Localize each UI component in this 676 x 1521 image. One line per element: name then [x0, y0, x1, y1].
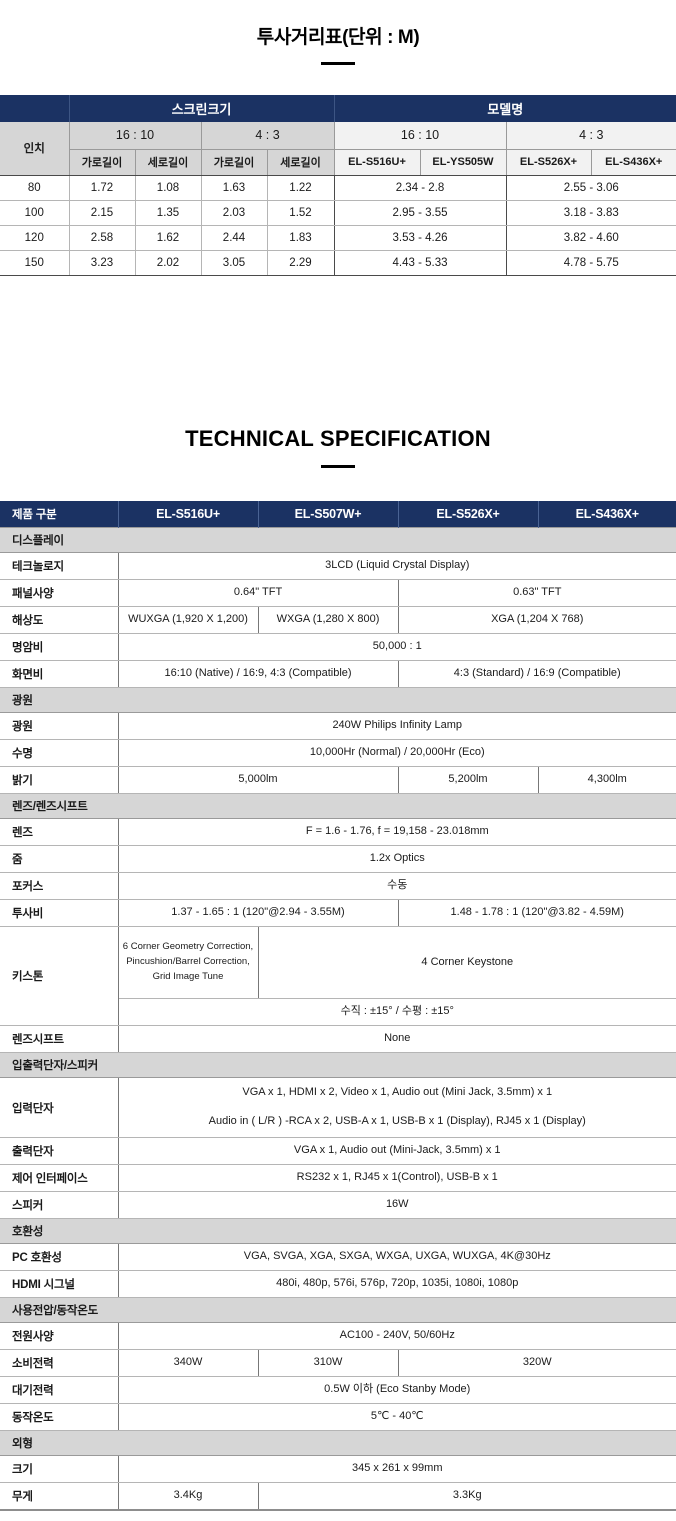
- value-brightness-c: 4,300lm: [538, 767, 676, 794]
- section-row: 광원: [0, 688, 676, 713]
- label-lens: 렌즈: [0, 819, 118, 846]
- cell-model-43: 4.78 - 5.75: [506, 250, 676, 275]
- value-contrast: 50,000 : 1: [118, 634, 676, 661]
- header-ratio-model-1610: 16 : 10: [334, 122, 506, 149]
- cell-model-1610: 2.95 - 3.55: [334, 200, 506, 225]
- value-technology: 3LCD (Liquid Crystal Display): [118, 553, 676, 580]
- spec-header-label: 제품 구분: [0, 501, 118, 528]
- label-throw: 투사비: [0, 900, 118, 927]
- section-row: 디스플레이: [0, 528, 676, 553]
- table-row: HDMI 시그널 480i, 480p, 576i, 576p, 720p, 1…: [0, 1271, 676, 1298]
- cell-width-43: 2.03: [201, 200, 267, 225]
- label-resolution: 해상도: [0, 607, 118, 634]
- value-standby: 0.5W 이하 (Eco Stanby Mode): [118, 1377, 676, 1404]
- spacer: [0, 65, 676, 95]
- table-row: 100 2.15 1.35 2.03 1.52 2.95 - 3.55 3.18…: [0, 200, 676, 225]
- table-row: 입력단자 VGA x 1, HDMI x 2, Video x 1, Audio…: [0, 1078, 676, 1108]
- table-row: 크기 345 x 261 x 99mm: [0, 1456, 676, 1483]
- value-input-1: VGA x 1, HDMI x 2, Video x 1, Audio out …: [118, 1078, 676, 1108]
- cell-height-1610: 2.02: [135, 250, 201, 275]
- value-resolution-3: XGA (1,204 X 768): [398, 607, 676, 634]
- value-weight-a: 3.4Kg: [118, 1483, 258, 1510]
- label-consumption: 소비전력: [0, 1350, 118, 1377]
- table-row: 줌 1.2x Optics: [0, 846, 676, 873]
- table-row: 밝기 5,000lm 5,200lm 4,300lm: [0, 767, 676, 794]
- header-model-el-s436x: EL-S436X+: [591, 149, 676, 175]
- table-row: 150 3.23 2.02 3.05 2.29 4.43 - 5.33 4.78…: [0, 250, 676, 275]
- group-header-model-name: 모델명: [334, 95, 676, 122]
- value-control: RS232 x 1, RJ45 x 1(Control), USB-B x 1: [118, 1165, 676, 1192]
- section-lightsource: 광원: [0, 688, 676, 713]
- value-lens: F = 1.6 - 1.76, f = 19,158 - 23.018mm: [118, 819, 676, 846]
- value-aspect-a: 16:10 (Native) / 16:9, 4:3 (Compatible): [118, 661, 398, 688]
- value-throw-b: 1.48 - 1.78 : 1 (120"@3.82 - 4.59M): [398, 900, 676, 927]
- value-resolution-2: WXGA (1,280 X 800): [258, 607, 398, 634]
- value-brightness-a: 5,000lm: [118, 767, 398, 794]
- cell-model-1610: 4.43 - 5.33: [334, 250, 506, 275]
- cell-width-43: 3.05: [201, 250, 267, 275]
- table-row: 전원사양 AC100 - 240V, 50/60Hz: [0, 1323, 676, 1350]
- label-zoom: 줌: [0, 846, 118, 873]
- section-display: 디스플레이: [0, 528, 676, 553]
- cell-height-43: 1.22: [267, 175, 334, 200]
- cell-width-1610: 1.72: [69, 175, 135, 200]
- cell-inch: 120: [0, 225, 69, 250]
- value-input-2: Audio in ( L/R ) -RCA x 2, USB-A x 1, US…: [118, 1108, 676, 1138]
- header-width-1610: 가로길이: [69, 149, 135, 175]
- header-ratio-screen-1610: 16 : 10: [69, 122, 201, 149]
- value-consumption-c: 320W: [398, 1350, 676, 1377]
- cell-inch: 100: [0, 200, 69, 225]
- table-row: 무게 3.4Kg 3.3Kg: [0, 1483, 676, 1510]
- page-title: 투사거리표(단위 : M): [0, 0, 676, 49]
- table-row: 패널사양 0.64" TFT 0.63" TFT: [0, 580, 676, 607]
- label-optemp: 동작온도: [0, 1404, 118, 1431]
- value-lightsource: 240W Philips Infinity Lamp: [118, 713, 676, 740]
- header-ratio-model-43: 4 : 3: [506, 122, 676, 149]
- value-keystone-c: 수직 : ±15° / 수평 : ±15°: [118, 999, 676, 1026]
- label-hdmi-signal: HDMI 시그널: [0, 1271, 118, 1298]
- table-row: 동작온도 5℃ - 40℃: [0, 1404, 676, 1431]
- spec-header-model-1: EL-S516U+: [118, 501, 258, 528]
- value-resolution-1: WUXGA (1,920 X 1,200): [118, 607, 258, 634]
- cell-width-1610: 3.23: [69, 250, 135, 275]
- value-panel-b: 0.63" TFT: [398, 580, 676, 607]
- value-output: VGA x 1, Audio out (Mini-Jack, 3.5mm) x …: [118, 1138, 676, 1165]
- section-row: 렌즈/렌즈시프트: [0, 794, 676, 819]
- header-ratio-screen-43: 4 : 3: [201, 122, 334, 149]
- section-power: 사용전압/동작온도: [0, 1298, 676, 1323]
- spec-header-model-3: EL-S526X+: [398, 501, 538, 528]
- value-focus: 수동: [118, 873, 676, 900]
- value-panel-a: 0.64" TFT: [118, 580, 398, 607]
- section-row: 입출력단자/스피커: [0, 1053, 676, 1078]
- label-contrast: 명암비: [0, 634, 118, 661]
- spec-header-model-2: EL-S507W+: [258, 501, 398, 528]
- table-row: 수명 10,000Hr (Normal) / 20,000Hr (Eco): [0, 740, 676, 767]
- label-aspect: 화면비: [0, 661, 118, 688]
- table-row: 광원 240W Philips Infinity Lamp: [0, 713, 676, 740]
- spec-header-row: 제품 구분 EL-S516U+ EL-S507W+ EL-S526X+ EL-S…: [0, 501, 676, 528]
- header-height-1610: 세로길이: [135, 149, 201, 175]
- label-panel: 패널사양: [0, 580, 118, 607]
- value-supply: AC100 - 240V, 50/60Hz: [118, 1323, 676, 1350]
- projection-sub-header-row: 가로길이 세로길이 가로길이 세로길이 EL-S516U+ EL-YS505W …: [0, 149, 676, 175]
- table-row: 120 2.58 1.62 2.44 1.83 3.53 - 4.26 3.82…: [0, 225, 676, 250]
- table-row: 포커스 수동: [0, 873, 676, 900]
- label-focus: 포커스: [0, 873, 118, 900]
- cell-model-1610: 3.53 - 4.26: [334, 225, 506, 250]
- projection-distance-table: 스크린크기 모델명 인치 16 : 10 4 : 3 16 : 10 4 : 3…: [0, 95, 676, 276]
- cell-height-43: 1.52: [267, 200, 334, 225]
- table-row: 출력단자 VGA x 1, Audio out (Mini-Jack, 3.5m…: [0, 1138, 676, 1165]
- section-dimensions: 외형: [0, 1431, 676, 1456]
- value-keystone-b: 4 Corner Keystone: [258, 927, 676, 999]
- cell-height-43: 1.83: [267, 225, 334, 250]
- cell-width-43: 1.63: [201, 175, 267, 200]
- label-life: 수명: [0, 740, 118, 767]
- table-row: 소비전력 340W 310W 320W: [0, 1350, 676, 1377]
- value-hdmi-signal: 480i, 480p, 576i, 576p, 720p, 1035i, 108…: [118, 1271, 676, 1298]
- label-supply: 전원사양: [0, 1323, 118, 1350]
- spacer: [0, 468, 676, 501]
- value-weight-b: 3.3Kg: [258, 1483, 676, 1510]
- table-row: 대기전력 0.5W 이하 (Eco Stanby Mode): [0, 1377, 676, 1404]
- cell-model-1610: 2.34 - 2.8: [334, 175, 506, 200]
- value-consumption-b: 310W: [258, 1350, 398, 1377]
- value-consumption-a: 340W: [118, 1350, 258, 1377]
- spec-page-title: TECHNICAL SPECIFICATION: [0, 426, 676, 452]
- label-standby: 대기전력: [0, 1377, 118, 1404]
- value-optemp: 5℃ - 40℃: [118, 1404, 676, 1431]
- label-pc-compat: PC 호환성: [0, 1244, 118, 1271]
- header-height-43: 세로길이: [267, 149, 334, 175]
- table-row: 렌즈 F = 1.6 - 1.76, f = 19,158 - 23.018mm: [0, 819, 676, 846]
- label-keystone: 키스톤: [0, 927, 118, 1026]
- spec-title-block: TECHNICAL SPECIFICATION: [0, 426, 676, 468]
- technical-specification-table: 제품 구분 EL-S516U+ EL-S507W+ EL-S526X+ EL-S…: [0, 501, 676, 1511]
- value-speaker: 16W: [118, 1192, 676, 1219]
- table-row: 명암비 50,000 : 1: [0, 634, 676, 661]
- value-zoom: 1.2x Optics: [118, 846, 676, 873]
- cell-model-43: 2.55 - 3.06: [506, 175, 676, 200]
- label-brightness: 밝기: [0, 767, 118, 794]
- label-speaker: 스피커: [0, 1192, 118, 1219]
- label-size: 크기: [0, 1456, 118, 1483]
- section-row: 호환성: [0, 1219, 676, 1244]
- cell-width-1610: 2.58: [69, 225, 135, 250]
- label-technology: 테크놀로지: [0, 553, 118, 580]
- spec-header-model-4: EL-S436X+: [538, 501, 676, 528]
- label-weight: 무게: [0, 1483, 118, 1510]
- header-inch: 인치: [0, 122, 69, 175]
- label-input: 입력단자: [0, 1078, 118, 1138]
- projection-title-block: 투사거리표(단위 : M): [0, 0, 676, 65]
- cell-height-1610: 1.35: [135, 200, 201, 225]
- label-lightsource: 광원: [0, 713, 118, 740]
- cell-height-43: 2.29: [267, 250, 334, 275]
- projection-ratio-header-row: 인치 16 : 10 4 : 3 16 : 10 4 : 3: [0, 122, 676, 149]
- section-row: 외형: [0, 1431, 676, 1456]
- header-model-el-s516u: EL-S516U+: [334, 149, 420, 175]
- table-row: 화면비 16:10 (Native) / 16:9, 4:3 (Compatib…: [0, 661, 676, 688]
- section-row: 사용전압/동작온도: [0, 1298, 676, 1323]
- header-model-el-ys505w: EL-YS505W: [420, 149, 506, 175]
- section-terminals: 입출력단자/스피커: [0, 1053, 676, 1078]
- label-control: 제어 인터페이스: [0, 1165, 118, 1192]
- section-compat: 호환성: [0, 1219, 676, 1244]
- projection-group-header-row: 스크린크기 모델명: [0, 95, 676, 122]
- value-pc-compat: VGA, SVGA, XGA, SXGA, WXGA, UXGA, WUXGA,…: [118, 1244, 676, 1271]
- table-row: 해상도 WUXGA (1,920 X 1,200) WXGA (1,280 X …: [0, 607, 676, 634]
- table-row: 제어 인터페이스 RS232 x 1, RJ45 x 1(Control), U…: [0, 1165, 676, 1192]
- header-model-el-s526x: EL-S526X+: [506, 149, 591, 175]
- cell-height-1610: 1.62: [135, 225, 201, 250]
- cell-inch: 150: [0, 250, 69, 275]
- value-keystone-a: 6 Corner Geometry Correction, Pincushion…: [118, 927, 258, 999]
- group-header-screen-size: 스크린크기: [69, 95, 334, 122]
- table-row: 스피커 16W: [0, 1192, 676, 1219]
- value-throw-a: 1.37 - 1.65 : 1 (120"@2.94 - 3.55M): [118, 900, 398, 927]
- cell-height-1610: 1.08: [135, 175, 201, 200]
- spacer: [0, 276, 676, 426]
- value-brightness-b: 5,200lm: [398, 767, 538, 794]
- cell-width-43: 2.44: [201, 225, 267, 250]
- table-row: 렌즈시프트 None: [0, 1026, 676, 1053]
- table-row: PC 호환성 VGA, SVGA, XGA, SXGA, WXGA, UXGA,…: [0, 1244, 676, 1271]
- cell-inch: 80: [0, 175, 69, 200]
- value-lensshift: None: [118, 1026, 676, 1053]
- value-life: 10,000Hr (Normal) / 20,000Hr (Eco): [118, 740, 676, 767]
- value-aspect-b: 4:3 (Standard) / 16:9 (Compatible): [398, 661, 676, 688]
- table-row: 투사비 1.37 - 1.65 : 1 (120"@2.94 - 3.55M) …: [0, 900, 676, 927]
- label-output: 출력단자: [0, 1138, 118, 1165]
- cell-width-1610: 2.15: [69, 200, 135, 225]
- table-row: 키스톤 6 Corner Geometry Correction, Pincus…: [0, 927, 676, 999]
- table-row: 테크놀로지 3LCD (Liquid Crystal Display): [0, 553, 676, 580]
- table-row: 80 1.72 1.08 1.63 1.22 2.34 - 2.8 2.55 -…: [0, 175, 676, 200]
- label-lensshift: 렌즈시프트: [0, 1026, 118, 1053]
- value-size: 345 x 261 x 99mm: [118, 1456, 676, 1483]
- cell-model-43: 3.18 - 3.83: [506, 200, 676, 225]
- header-width-43: 가로길이: [201, 149, 267, 175]
- cell-model-43: 3.82 - 4.60: [506, 225, 676, 250]
- spacer: [0, 1511, 676, 1519]
- section-lens: 렌즈/렌즈시프트: [0, 794, 676, 819]
- group-header-blank: [0, 95, 69, 122]
